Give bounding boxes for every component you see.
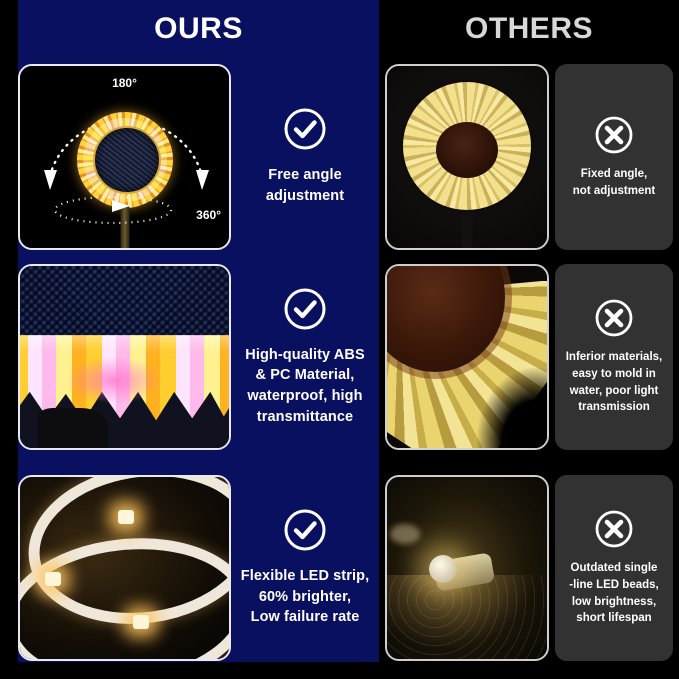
others-header: OTHERS — [379, 0, 679, 57]
label-180-degrees: 180° — [112, 76, 137, 90]
angle-diagram-illustration: 180° 360° — [20, 66, 229, 248]
others-caption-2-line-1: Inferior materials, — [566, 349, 663, 366]
others-caption-2-line-2: easy to mold in — [566, 366, 663, 383]
others-caption-3-line-2: -line LED beads, — [569, 577, 658, 594]
others-caption-1: Fixed angle, not adjustment — [555, 64, 673, 250]
led-strip-illustration — [20, 477, 229, 659]
others-caption-1-line-2: not adjustment — [573, 183, 655, 200]
others-image-sunflower-macro — [385, 264, 549, 450]
others-caption-2-line-3: water, poor light — [566, 383, 663, 400]
ours-caption-3-line-2: 60% brighter, — [241, 587, 369, 608]
others-row-1: Fixed angle, not adjustment — [379, 57, 679, 257]
ours-image-angle-diagram: 180° 360° — [18, 64, 231, 250]
ring-360-icon — [50, 192, 176, 226]
x-circle-icon — [594, 298, 634, 338]
ours-header: OURS — [0, 0, 379, 57]
ours-row-3: Flexible LED strip, 60% brighter, Low fa… — [0, 457, 379, 679]
others-row-3: Outdated single -line LED beads, low bri… — [379, 457, 679, 679]
ours-row-2: High-quality ABS & PC Material, waterpro… — [0, 257, 379, 457]
ours-caption-1-line-1: Free angle — [266, 165, 344, 186]
sunflower-macro-illustration — [387, 266, 547, 448]
ours-column: OURS — [0, 0, 379, 679]
others-caption-3: Outdated single -line LED beads, low bri… — [555, 475, 673, 661]
ours-caption-2: High-quality ABS & PC Material, waterpro… — [231, 287, 379, 427]
label-360-degrees: 360° — [196, 208, 221, 222]
others-title: OTHERS — [465, 14, 593, 44]
ours-title: OURS — [136, 14, 243, 44]
plain-sunflower-illustration — [387, 66, 547, 248]
ours-image-abs-pc-material — [18, 264, 231, 450]
others-image-plain-sunflower — [385, 64, 549, 250]
ours-caption-1-line-2: adjustment — [266, 186, 344, 207]
others-caption-3-line-3: low brightness, — [569, 594, 658, 611]
others-caption-1-line-1: Fixed angle, — [573, 166, 655, 183]
check-circle-icon — [283, 107, 327, 151]
others-caption-3-line-4: short lifespan — [569, 610, 658, 627]
others-row-2: Inferior materials, easy to mold in wate… — [379, 257, 679, 457]
comparison-infographic: OURS — [0, 0, 679, 679]
others-caption-2: Inferior materials, easy to mold in wate… — [555, 264, 673, 450]
x-circle-icon — [594, 115, 634, 155]
ours-image-led-strip — [18, 475, 231, 661]
others-rows: Fixed angle, not adjustment — [379, 57, 679, 679]
check-circle-icon — [283, 508, 327, 552]
ours-caption-1: Free angle adjustment — [231, 107, 379, 206]
ours-caption-3-line-3: Low failure rate — [241, 607, 369, 628]
ours-caption-2-line-1: High-quality ABS — [245, 345, 364, 366]
ours-caption-3-line-1: Flexible LED strip, — [241, 566, 369, 587]
others-caption-3-line-1: Outdated single — [569, 560, 658, 577]
x-circle-icon — [594, 509, 634, 549]
others-column: OTHERS — [379, 0, 679, 679]
ours-caption-2-line-4: transmittance — [245, 407, 364, 428]
check-circle-icon — [283, 287, 327, 331]
others-image-wet-bulb — [385, 475, 549, 661]
ours-row-1: 180° 360° Free angle adjustment — [0, 57, 379, 257]
others-caption-2-line-4: transmission — [566, 399, 663, 416]
ours-caption-2-line-2: & PC Material, — [245, 365, 364, 386]
ours-rows: 180° 360° Free angle adjustment — [0, 57, 379, 679]
abs-pc-illustration — [20, 266, 229, 448]
ours-caption-2-line-3: waterproof, high — [245, 386, 364, 407]
ours-caption-3: Flexible LED strip, 60% brighter, Low fa… — [231, 508, 379, 628]
wet-bulb-illustration — [387, 477, 547, 659]
